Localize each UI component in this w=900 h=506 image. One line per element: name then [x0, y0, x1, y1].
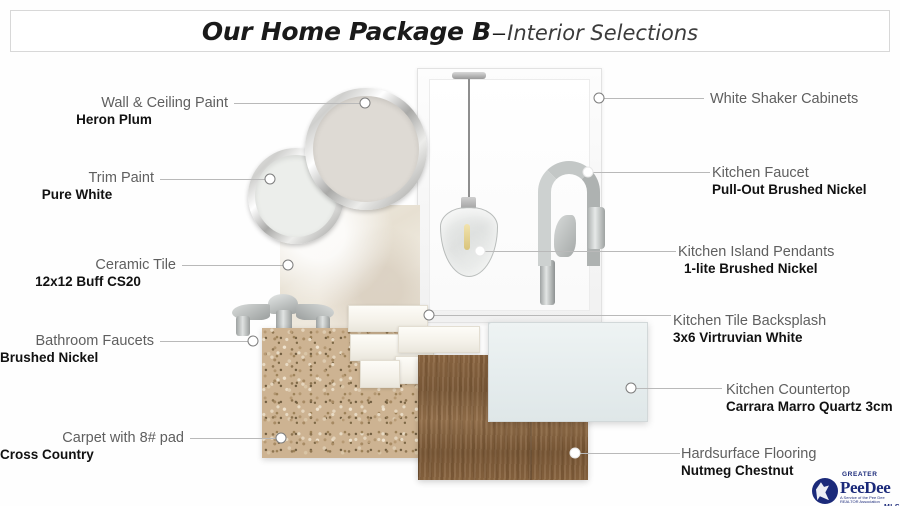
label-ceramic-tile-line2: 12x12 Buff CS20	[0, 274, 176, 291]
leader-ceramic-tile	[182, 265, 284, 266]
leader-hardsurface-flooring	[577, 453, 680, 454]
label-trim-paint-line2: Pure White	[0, 187, 154, 204]
page-title: Our Home Package B–Interior Selections	[202, 17, 698, 46]
label-hardsurface-flooring: Hardsurface Flooring Nutmeg Chestnut	[681, 445, 816, 480]
label-kitchen-tile-backsplash-line2: 3x6 Virtruvian White	[673, 330, 826, 347]
wall-ceiling-paint-color	[313, 96, 419, 202]
label-hardsurface-flooring-line1: Hardsurface Flooring	[681, 445, 816, 463]
kitchen-faucet-swatch	[528, 155, 620, 305]
label-white-shaker-cabinets-line1: White Shaker Cabinets	[710, 90, 858, 108]
marker-trim-paint	[265, 174, 276, 185]
label-carpet-line2: Cross Country	[0, 447, 184, 464]
label-bathroom-faucets: Bathroom Faucets Brushed Nickel	[0, 332, 158, 367]
title-dash: –	[491, 20, 507, 45]
peedee-logo-text: GREATER PeeDee A Service of the Pee Dee …	[840, 472, 900, 506]
label-kitchen-faucet-line2: Pull-Out Brushed Nickel	[712, 182, 867, 199]
kitchen-countertop-swatch	[488, 322, 648, 422]
label-ceramic-tile: Ceramic Tile 12x12 Buff CS20	[0, 256, 180, 291]
leader-kitchen-countertop	[633, 388, 722, 389]
label-kitchen-countertop-line1: Kitchen Countertop	[726, 381, 893, 399]
title-bar: Our Home Package B–Interior Selections	[10, 10, 890, 52]
backsplash-tile-5	[360, 360, 400, 388]
label-kitchen-tile-backsplash: Kitchen Tile Backsplash 3x6 Virtruvian W…	[673, 312, 826, 347]
marker-kitchen-faucet	[583, 167, 594, 178]
label-kitchen-faucet-line1: Kitchen Faucet	[712, 164, 867, 182]
label-wall-ceiling-paint: Wall & Ceiling Paint Heron Plum	[0, 94, 232, 129]
marker-kitchen-countertop	[626, 383, 637, 394]
label-white-shaker-cabinets: White Shaker Cabinets	[710, 90, 858, 108]
leader-bathroom-faucets	[160, 341, 250, 342]
leader-carpet	[190, 438, 278, 439]
leader-wall-ceiling-paint	[234, 103, 360, 104]
label-bathroom-faucets-line2: Brushed Nickel	[0, 350, 154, 367]
leader-white-shaker-cabinets	[601, 98, 704, 99]
backsplash-tile-3	[398, 326, 480, 353]
label-bathroom-faucets-line1: Bathroom Faucets	[0, 332, 154, 350]
label-wall-ceiling-paint-line1: Wall & Ceiling Paint	[0, 94, 228, 112]
label-kitchen-island-pendants: Kitchen Island Pendants 1-lite Brushed N…	[678, 243, 834, 278]
label-kitchen-island-pendants-line1: Kitchen Island Pendants	[678, 243, 834, 261]
label-trim-paint: Trim Paint Pure White	[0, 169, 158, 204]
marker-kitchen-tile-backsplash	[424, 310, 435, 321]
label-carpet: Carpet with 8# pad Cross Country	[0, 429, 188, 464]
leader-trim-paint	[160, 179, 266, 180]
marker-wall-ceiling-paint	[360, 98, 371, 109]
logo-name-text: PeeDee	[840, 479, 900, 496]
label-carpet-line1: Carpet with 8# pad	[0, 429, 184, 447]
label-hardsurface-flooring-line2: Nutmeg Chestnut	[681, 463, 816, 480]
title-subtitle: Interior Selections	[507, 21, 698, 45]
peedee-mls-logo[interactable]: GREATER PeeDee A Service of the Pee Dee …	[812, 472, 900, 506]
pendant-light-swatch	[430, 72, 510, 302]
label-kitchen-island-pendants-line2: 1-lite Brushed Nickel	[678, 261, 834, 278]
marker-white-shaker-cabinets	[594, 93, 605, 104]
leader-kitchen-island-pendants	[482, 251, 676, 252]
leader-kitchen-faucet	[590, 172, 710, 173]
label-ceramic-tile-line1: Ceramic Tile	[0, 256, 176, 274]
label-wall-ceiling-paint-line2: Heron Plum	[0, 112, 228, 129]
label-kitchen-tile-backsplash-line1: Kitchen Tile Backsplash	[673, 312, 826, 330]
mood-board: Our Home Package B–Interior Selections	[0, 0, 900, 506]
marker-ceramic-tile	[283, 260, 294, 271]
marker-carpet	[276, 433, 287, 444]
label-kitchen-faucet: Kitchen Faucet Pull-Out Brushed Nickel	[712, 164, 867, 199]
peedee-emblem-icon	[812, 478, 838, 504]
leader-kitchen-tile-backsplash	[431, 315, 671, 316]
label-kitchen-countertop: Kitchen Countertop Carrara Marro Quartz …	[726, 381, 893, 416]
marker-kitchen-island-pendants	[475, 246, 486, 257]
marker-hardsurface-flooring	[570, 448, 581, 459]
label-kitchen-countertop-line2: Carrara Marro Quartz 3cm	[726, 399, 893, 416]
label-trim-paint-line1: Trim Paint	[0, 169, 154, 187]
logo-tagline-text: A Service of the Pee Dee REALTOR Associa…	[840, 496, 900, 504]
marker-bathroom-faucets	[248, 336, 259, 347]
title-main: Our Home Package B	[202, 17, 491, 46]
